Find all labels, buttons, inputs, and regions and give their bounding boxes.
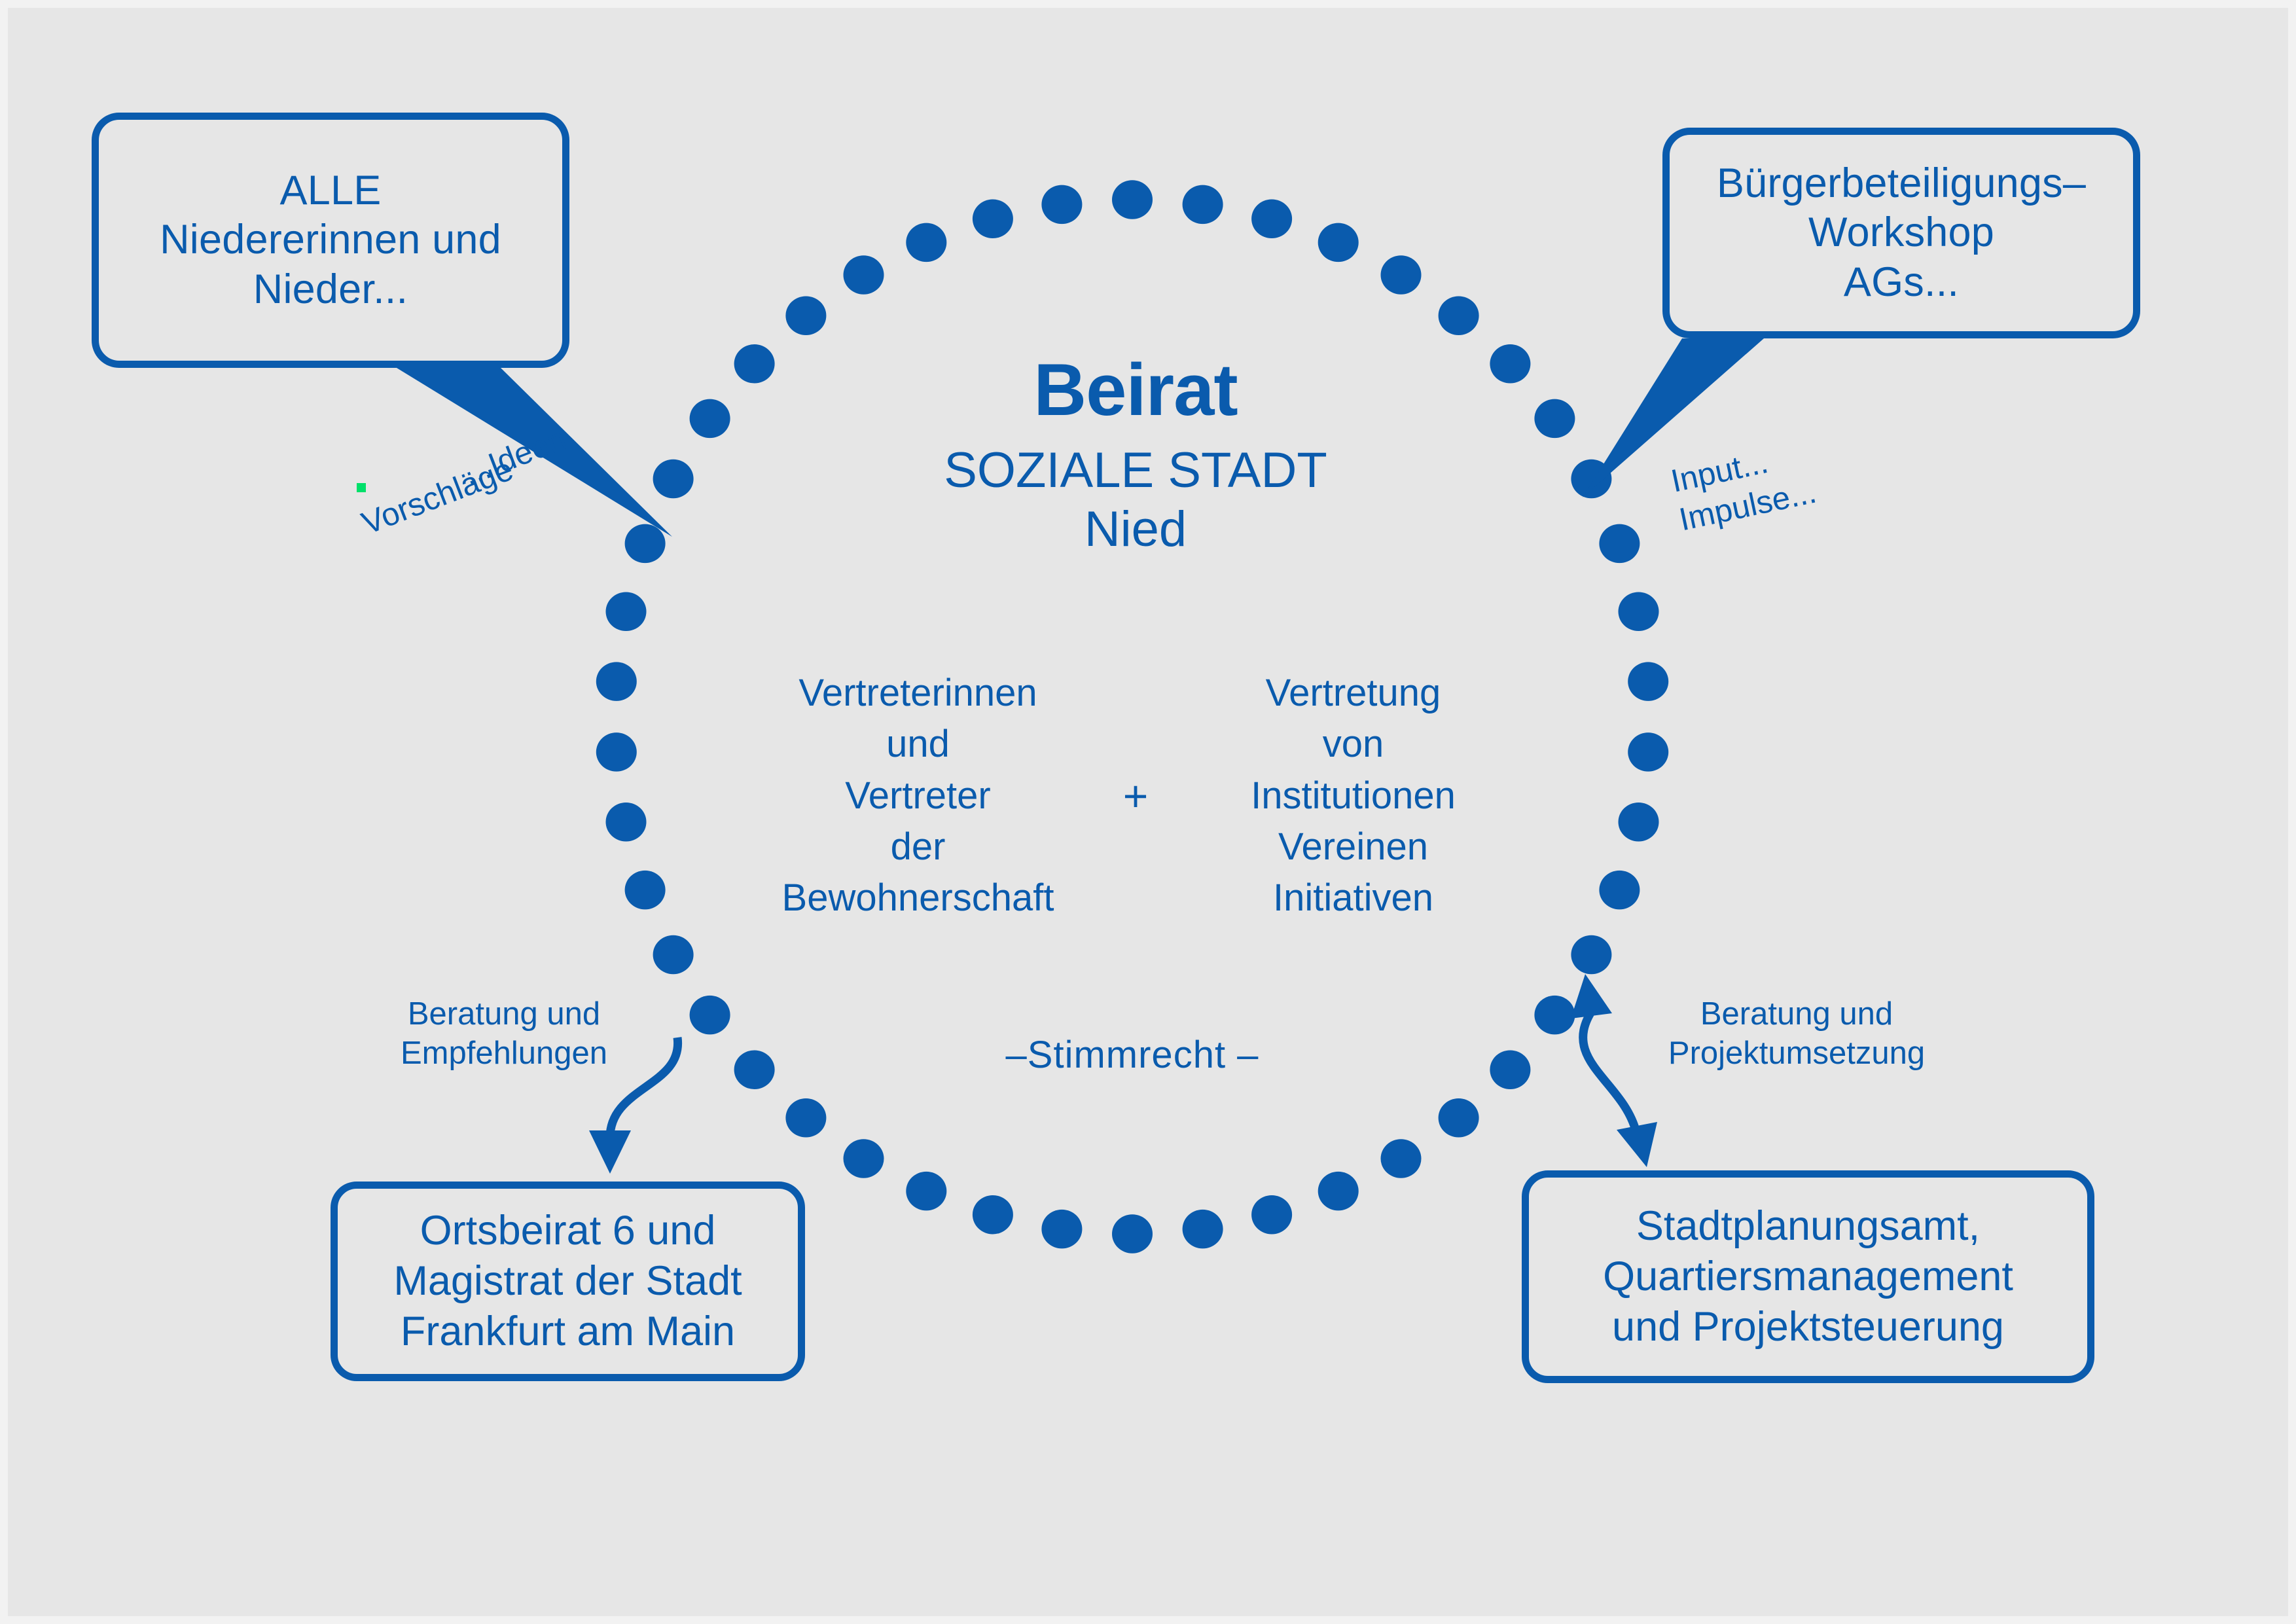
circle-dot	[1318, 223, 1359, 262]
circle-dot	[1534, 399, 1575, 439]
speech-bubble-workshop[interactable]: Bürgerbeteiligungs– Workshop AGs...	[1662, 128, 2140, 338]
speech-bubble-workshop-text: Bürgerbeteiligungs– Workshop AGs...	[1717, 159, 2086, 308]
membership-column-institutions: Vertretung von Institutionen Vereinen In…	[1175, 668, 1532, 924]
circle-dot	[690, 996, 730, 1035]
plus-sign: +	[1096, 771, 1175, 821]
circle-dot	[1599, 524, 1640, 564]
circle-dot	[1381, 1139, 1422, 1178]
circle-dot	[653, 935, 694, 975]
arrow-head-left	[589, 1130, 631, 1174]
circle-dot	[596, 732, 637, 772]
annotation-beratung-empfehlungen: Beratung und Empfehlungen	[373, 995, 635, 1074]
circle-dot	[844, 1139, 884, 1178]
circle-dot	[1318, 1172, 1359, 1211]
circle-dot	[690, 399, 730, 439]
circle-dot	[906, 223, 946, 262]
circle-dot	[973, 200, 1013, 239]
partner-box-stadtplanungsamt[interactable]: Stadtplanungsamt, Quartiersmanagement un…	[1522, 1170, 2094, 1383]
voting-rights-note: –Stimmrecht –	[870, 1033, 1394, 1077]
partner-box-ortsbeirat-text: Ortsbeirat 6 und Magistrat der Stadt Fra…	[393, 1206, 742, 1357]
annotation-beratung-projektumsetzung: Beratung und Projektumsetzung	[1643, 995, 1950, 1074]
circle-dot	[785, 296, 826, 335]
speech-bubble-residents[interactable]: ALLE Niedererinnen und Nieder...	[92, 113, 569, 368]
arrow-line-right	[1583, 1008, 1636, 1132]
circle-dot	[606, 803, 647, 842]
circle-dot	[785, 1098, 826, 1138]
membership-columns: Vertreterinnen und Vertreter der Bewohne…	[710, 668, 1561, 924]
circle-dot	[1112, 1214, 1153, 1254]
page-subtitle-line-2: Nied	[753, 500, 1518, 559]
page-subtitle-line-1: SOZIALE STADT	[753, 441, 1518, 500]
circle-dot	[1628, 662, 1668, 701]
circle-dot	[1251, 1195, 1292, 1235]
circle-dot	[653, 460, 694, 499]
arrow-head-right-up	[1571, 974, 1612, 1019]
green-marker-dot	[357, 483, 366, 492]
circle-dot	[1041, 185, 1082, 225]
circle-dot	[906, 1172, 946, 1211]
arrow-head-right-down	[1617, 1122, 1657, 1167]
circle-dot	[1381, 255, 1422, 295]
center-title-block: Beirat SOZIALE STADT Nied	[753, 353, 1518, 558]
circle-dot	[1251, 200, 1292, 239]
circle-dot	[1439, 296, 1479, 335]
circle-dot	[1183, 1210, 1223, 1249]
circle-dot	[596, 662, 637, 701]
page-title: Beirat	[753, 353, 1518, 427]
circle-dot	[1112, 180, 1153, 219]
circle-dot	[1571, 935, 1611, 975]
membership-column-residents: Vertreterinnen und Vertreter der Bewohne…	[740, 668, 1096, 924]
circle-dot	[1490, 1050, 1530, 1089]
circle-dot	[973, 1195, 1013, 1235]
circle-dot	[1619, 803, 1659, 842]
diagram-canvas: ALLE Niedererinnen und Nieder... Bürgerb…	[0, 0, 2296, 1624]
circle-dot	[1619, 592, 1659, 632]
circle-dot	[1439, 1098, 1479, 1138]
circle-dot	[1183, 185, 1223, 225]
circle-dot	[625, 524, 666, 564]
circle-dot	[734, 1050, 775, 1089]
circle-dot	[1628, 732, 1668, 772]
circle-dot	[606, 592, 647, 632]
partner-box-stadtplanungsamt-text: Stadtplanungsamt, Quartiersmanagement un…	[1603, 1201, 2013, 1352]
circle-dot	[844, 255, 884, 295]
speech-bubble-residents-text: ALLE Niedererinnen und Nieder...	[160, 166, 501, 315]
circle-dot	[1041, 1210, 1082, 1249]
circle-dot	[1534, 996, 1575, 1035]
partner-box-ortsbeirat[interactable]: Ortsbeirat 6 und Magistrat der Stadt Fra…	[331, 1182, 805, 1381]
circle-dot	[1599, 871, 1640, 910]
circle-dot	[625, 871, 666, 910]
